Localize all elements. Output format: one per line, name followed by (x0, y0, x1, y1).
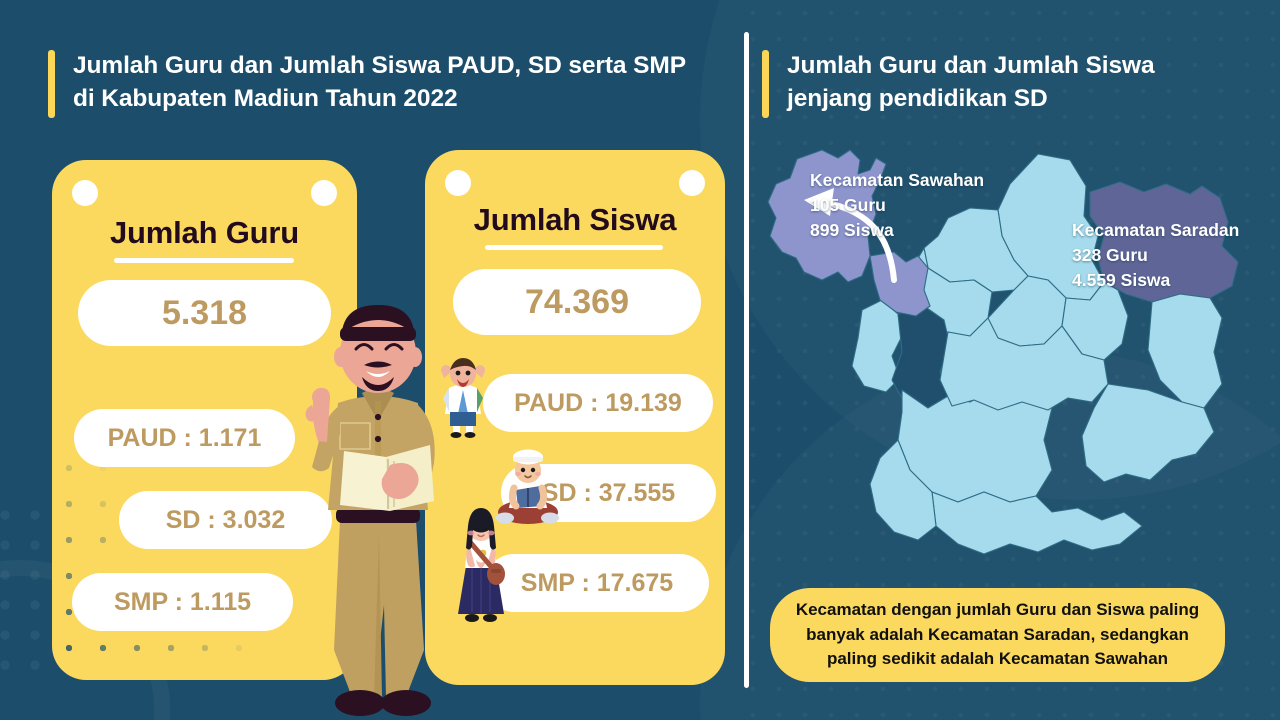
summary-caption: Kecamatan dengan jumlah Guru dan Siswa p… (770, 588, 1225, 682)
card-heading: Jumlah Guru (52, 215, 357, 251)
stat-pill-paud: PAUD : 1.171 (74, 409, 295, 467)
map-label-saradan-students: 4.559 Siswa (1072, 268, 1239, 293)
card-punch-hole-left (445, 170, 471, 196)
stat-pill-smp: SMP : 1.115 (72, 573, 293, 631)
map-label-sawahan: Kecamatan Sawahan 105 Guru 899 Siswa (810, 168, 984, 243)
map-label-saradan-teachers: 328 Guru (1072, 243, 1239, 268)
card-heading-rule (114, 258, 294, 263)
card-heading: Jumlah Siswa (425, 202, 725, 238)
left-panel-title: Jumlah Guru dan Jumlah Siswa PAUD, SD se… (48, 50, 708, 118)
map-label-sawahan-name: Kecamatan Sawahan (810, 168, 984, 193)
title-accent-bar (48, 50, 55, 118)
total-value-pill: 74.369 (453, 269, 701, 335)
left-title-text: Jumlah Guru dan Jumlah Siswa PAUD, SD se… (73, 50, 708, 115)
map-label-saradan-name: Kecamatan Saradan (1072, 218, 1239, 243)
right-title-text: Jumlah Guru dan Jumlah Siswa jenjang pen… (787, 50, 1242, 115)
title-accent-bar (762, 50, 769, 118)
panel-divider (744, 32, 749, 688)
stat-pill-paud: PAUD : 19.139 (483, 374, 713, 432)
student-girl-illustration (450, 508, 512, 626)
map-label-sawahan-students: 899 Siswa (810, 218, 984, 243)
infographic-canvas: Jumlah Guru dan Jumlah Siswa PAUD, SD se… (0, 0, 1280, 720)
stat-pill-smp: SMP : 17.675 (485, 554, 709, 612)
map-region-dark-notch (892, 306, 950, 408)
card-punch-hole-right (679, 170, 705, 196)
card-dot-pattern (52, 450, 242, 680)
map-label-sawahan-teachers: 105 Guru (810, 193, 984, 218)
card-punch-hole-right (311, 180, 337, 206)
right-panel-title: Jumlah Guru dan Jumlah Siswa jenjang pen… (762, 50, 1242, 118)
student-cheering-illustration (432, 358, 494, 438)
card-heading-rule (485, 245, 663, 250)
card-punch-hole-left (72, 180, 98, 206)
map-label-saradan: Kecamatan Saradan 328 Guru 4.559 Siswa (1072, 218, 1239, 293)
